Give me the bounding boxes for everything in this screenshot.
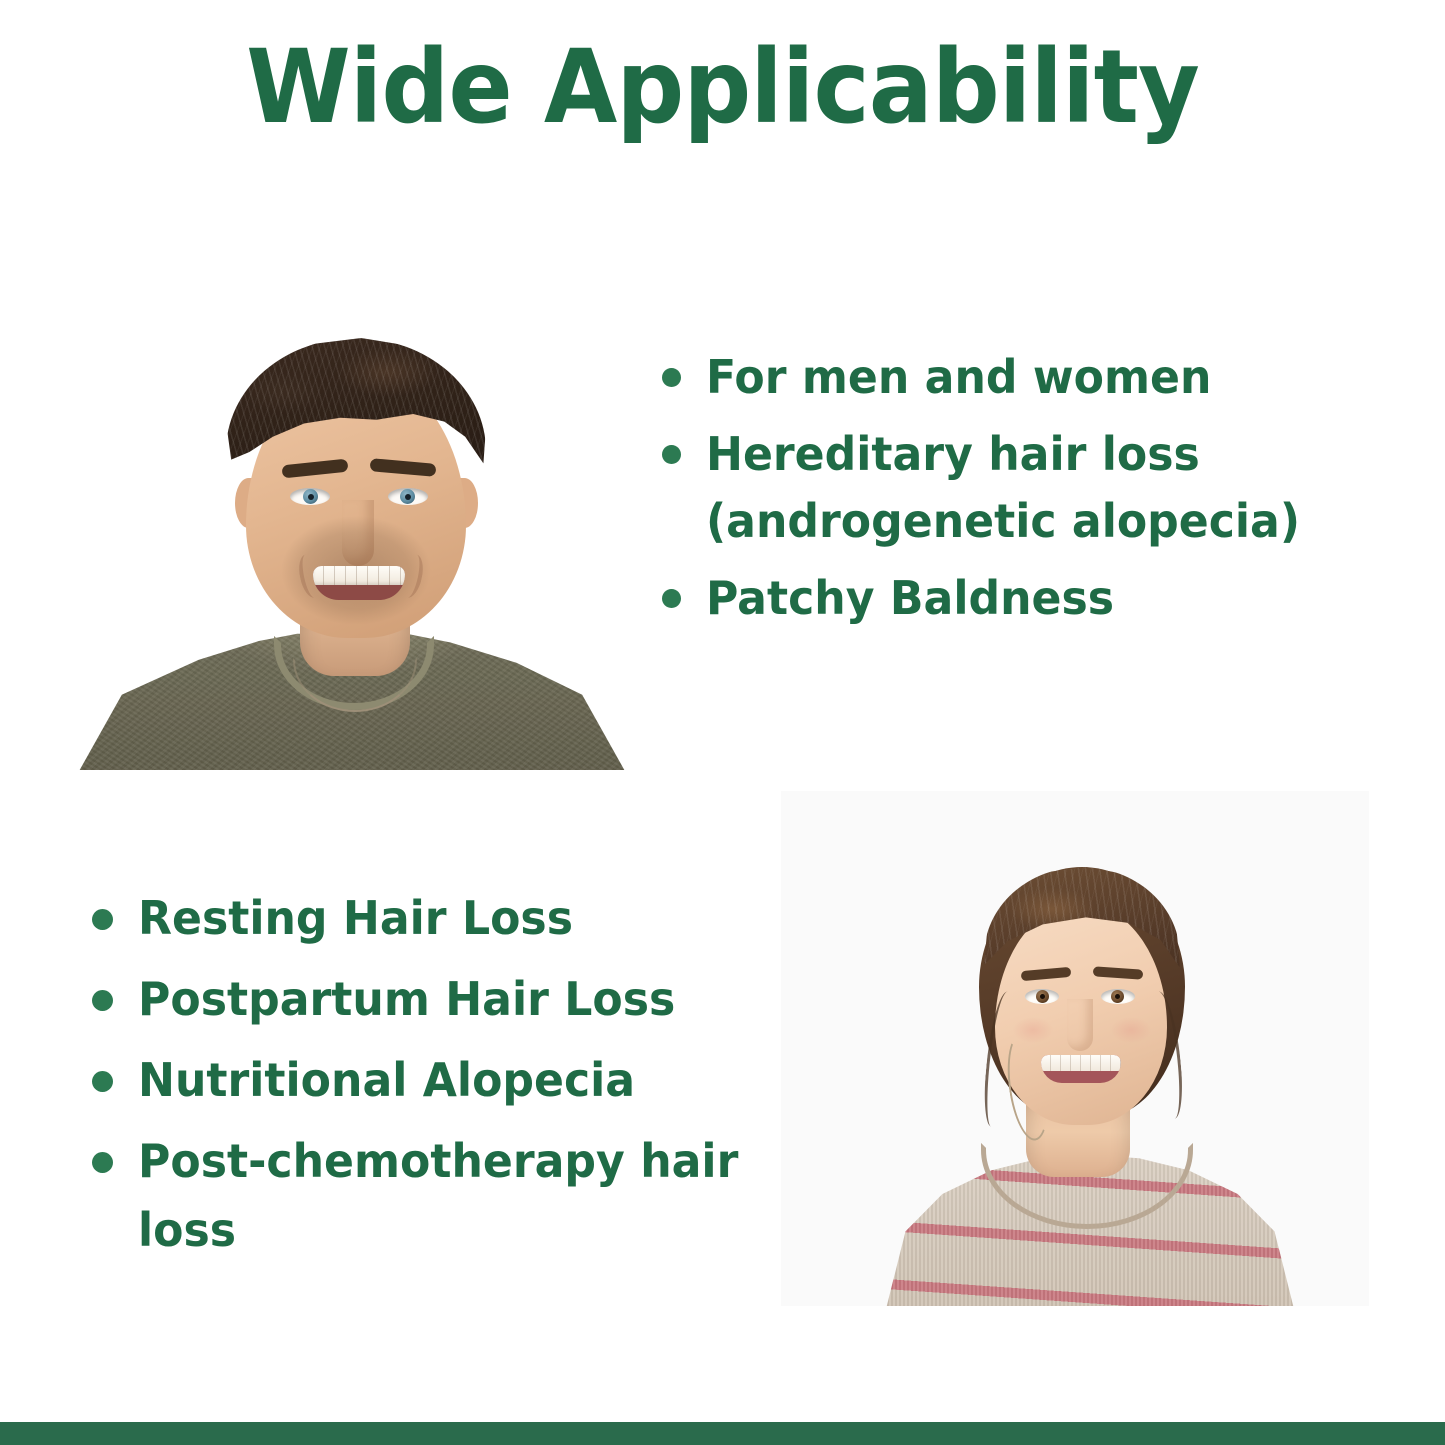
list-item-label: Nutritional Alopecia bbox=[138, 1046, 750, 1115]
list-item-label: Post-chemotherapy hair loss bbox=[138, 1127, 750, 1265]
list-item-label: Hereditary hair loss (androgenetic alope… bbox=[706, 421, 1399, 555]
woman-pupil-right bbox=[1115, 994, 1120, 999]
bullet-dot-icon bbox=[662, 368, 681, 387]
list-item: Post-chemotherapy hair loss bbox=[86, 1127, 776, 1265]
list-item: Postpartum Hair Loss bbox=[86, 965, 776, 1034]
bullet-dot-icon bbox=[662, 589, 681, 608]
woman-cheek-right bbox=[1111, 1017, 1151, 1043]
list-item: Patchy Baldness bbox=[658, 565, 1428, 632]
list-item-label: Postpartum Hair Loss bbox=[138, 965, 750, 1034]
bullet-dot-icon bbox=[92, 909, 113, 930]
photo-woman bbox=[781, 791, 1369, 1306]
woman-mouth bbox=[1041, 1055, 1121, 1083]
bullet-list-left: Resting Hair Loss Postpartum Hair Loss N… bbox=[86, 884, 776, 1277]
man-pupil-left bbox=[308, 494, 314, 500]
bullet-dot-icon bbox=[662, 445, 681, 464]
photo-man bbox=[78, 266, 626, 770]
list-item-label: Resting Hair Loss bbox=[138, 884, 750, 953]
list-item-label: For men and women bbox=[706, 344, 1399, 411]
infographic-canvas: Wide Applicability For m bbox=[0, 0, 1445, 1445]
bullet-dot-icon bbox=[92, 1071, 113, 1092]
bullet-dot-icon bbox=[92, 990, 113, 1011]
list-item: Hereditary hair loss (androgenetic alope… bbox=[658, 421, 1428, 555]
woman-nose bbox=[1067, 999, 1093, 1051]
man-nose bbox=[342, 500, 374, 566]
woman-teeth-gaps bbox=[1041, 1055, 1121, 1071]
list-item: For men and women bbox=[658, 344, 1428, 411]
bullet-list-right: For men and women Hereditary hair loss (… bbox=[658, 344, 1428, 642]
man-pupil-right bbox=[405, 494, 411, 500]
list-item-label: Patchy Baldness bbox=[706, 565, 1399, 632]
list-item: Resting Hair Loss bbox=[86, 884, 776, 953]
bullet-dot-icon bbox=[92, 1152, 113, 1173]
woman-pupil-left bbox=[1040, 994, 1045, 999]
list-item: Nutritional Alopecia bbox=[86, 1046, 776, 1115]
man-teeth-gaps bbox=[313, 566, 405, 585]
page-title: Wide Applicability bbox=[51, 34, 1395, 141]
bottom-accent-bar bbox=[0, 1422, 1445, 1445]
man-mouth bbox=[313, 566, 405, 600]
